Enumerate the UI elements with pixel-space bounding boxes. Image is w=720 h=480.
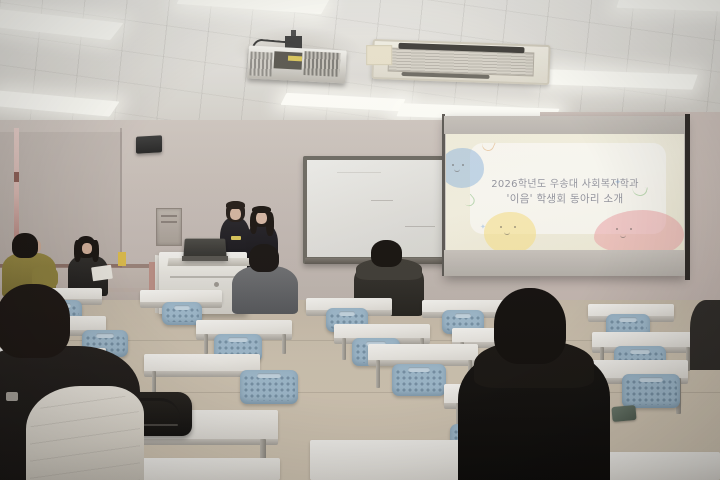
projector-label-sticker <box>288 56 302 62</box>
podium-accent-strip <box>149 262 155 292</box>
chair-perforation <box>625 379 677 405</box>
chair[interactable] <box>622 374 680 408</box>
jacket-logo <box>6 392 18 401</box>
classroom-photo: ✦ ✦ 2026학년도 우송대 사회복지학과 '이음' 학생회 동아리 소개 <box>0 0 720 480</box>
chair-handle <box>408 367 430 372</box>
wall-control-panel[interactable] <box>156 208 182 246</box>
student-puffer-head <box>0 284 70 358</box>
desk-surface <box>368 344 478 361</box>
wall-trim-strip <box>14 128 19 238</box>
panel-line <box>161 215 177 217</box>
presenter-left-hair <box>226 201 245 209</box>
panel-line <box>161 221 177 223</box>
whiteboard-mark <box>371 200 393 201</box>
chair-perforation <box>395 369 443 393</box>
desk <box>334 324 430 339</box>
chair-perforation <box>243 375 295 401</box>
chair-handle <box>228 337 247 342</box>
student-grey-head <box>249 244 279 272</box>
podium-knob[interactable] <box>214 282 219 287</box>
presenter-right-hair <box>252 206 271 213</box>
ac-side-tab <box>366 45 392 65</box>
podium-edge-line <box>170 276 240 278</box>
projection-screen: ✦ ✦ 2026학년도 우송대 사회복지학과 '이음' 학생회 동아리 소개 <box>444 116 686 276</box>
desk-leg <box>204 334 208 354</box>
student-hoodie-head <box>371 240 402 267</box>
screen-right-edge <box>685 114 690 280</box>
wall-trim-accent <box>14 172 19 182</box>
blob-character-yellow-icon <box>484 212 536 250</box>
desk <box>130 458 280 480</box>
ceiling-ac-cassette <box>371 39 550 85</box>
puffer-quilt-lines <box>30 392 140 480</box>
wall-speaker <box>136 135 162 153</box>
handout-papers <box>91 265 113 282</box>
slide-title-line2: '이음' 학생회 동아리 소개 <box>446 192 684 206</box>
chair-handle <box>257 373 280 378</box>
chair-handle <box>630 349 651 354</box>
whiteboard-mark <box>337 172 381 173</box>
presenter-right-face <box>256 212 267 224</box>
desk-surface <box>334 324 430 339</box>
desk-surface <box>196 320 292 335</box>
presenter-left-face <box>230 208 241 220</box>
screen-top-margin <box>444 116 686 134</box>
desk-leg <box>282 334 286 354</box>
wall-yellow-marker <box>118 252 126 266</box>
slide-title: 2026학년도 우송대 사회복지학과 '이음' 학생회 동아리 소개 <box>446 178 684 206</box>
chair[interactable] <box>392 364 446 396</box>
screen-bottom-margin <box>444 250 686 276</box>
desk-surface <box>130 458 280 480</box>
student-grey-body <box>232 266 298 314</box>
desk <box>368 344 478 361</box>
desk-leg <box>342 338 346 360</box>
student-dark-face <box>82 243 92 254</box>
projector-vent <box>303 51 340 77</box>
chair-handle <box>619 317 637 322</box>
chair-handle <box>455 313 472 318</box>
chair-handle <box>96 333 114 338</box>
chair-handle <box>174 305 190 310</box>
chair-handle <box>639 377 662 382</box>
presenter-left-name-badge <box>231 236 241 240</box>
student-black-coat-head <box>494 288 566 364</box>
chair-handle <box>339 311 356 316</box>
projector-vent <box>249 51 272 76</box>
desk <box>196 320 292 335</box>
sparkle-blue-icon: ✦ <box>480 224 486 231</box>
podium-monitor-base <box>182 256 228 261</box>
student-right-edge-body <box>690 300 720 370</box>
slide-title-line1: 2026학년도 우송대 사회복지학과 <box>446 178 684 192</box>
whiteboard-mark <box>405 226 435 227</box>
smartphone[interactable] <box>611 405 636 422</box>
student-olive-head <box>12 233 38 258</box>
presentation-slide: ✦ ✦ 2026학년도 우송대 사회복지학과 '이음' 학생회 동아리 소개 <box>446 134 684 250</box>
chair[interactable] <box>240 370 298 404</box>
desk-leg <box>376 360 380 388</box>
